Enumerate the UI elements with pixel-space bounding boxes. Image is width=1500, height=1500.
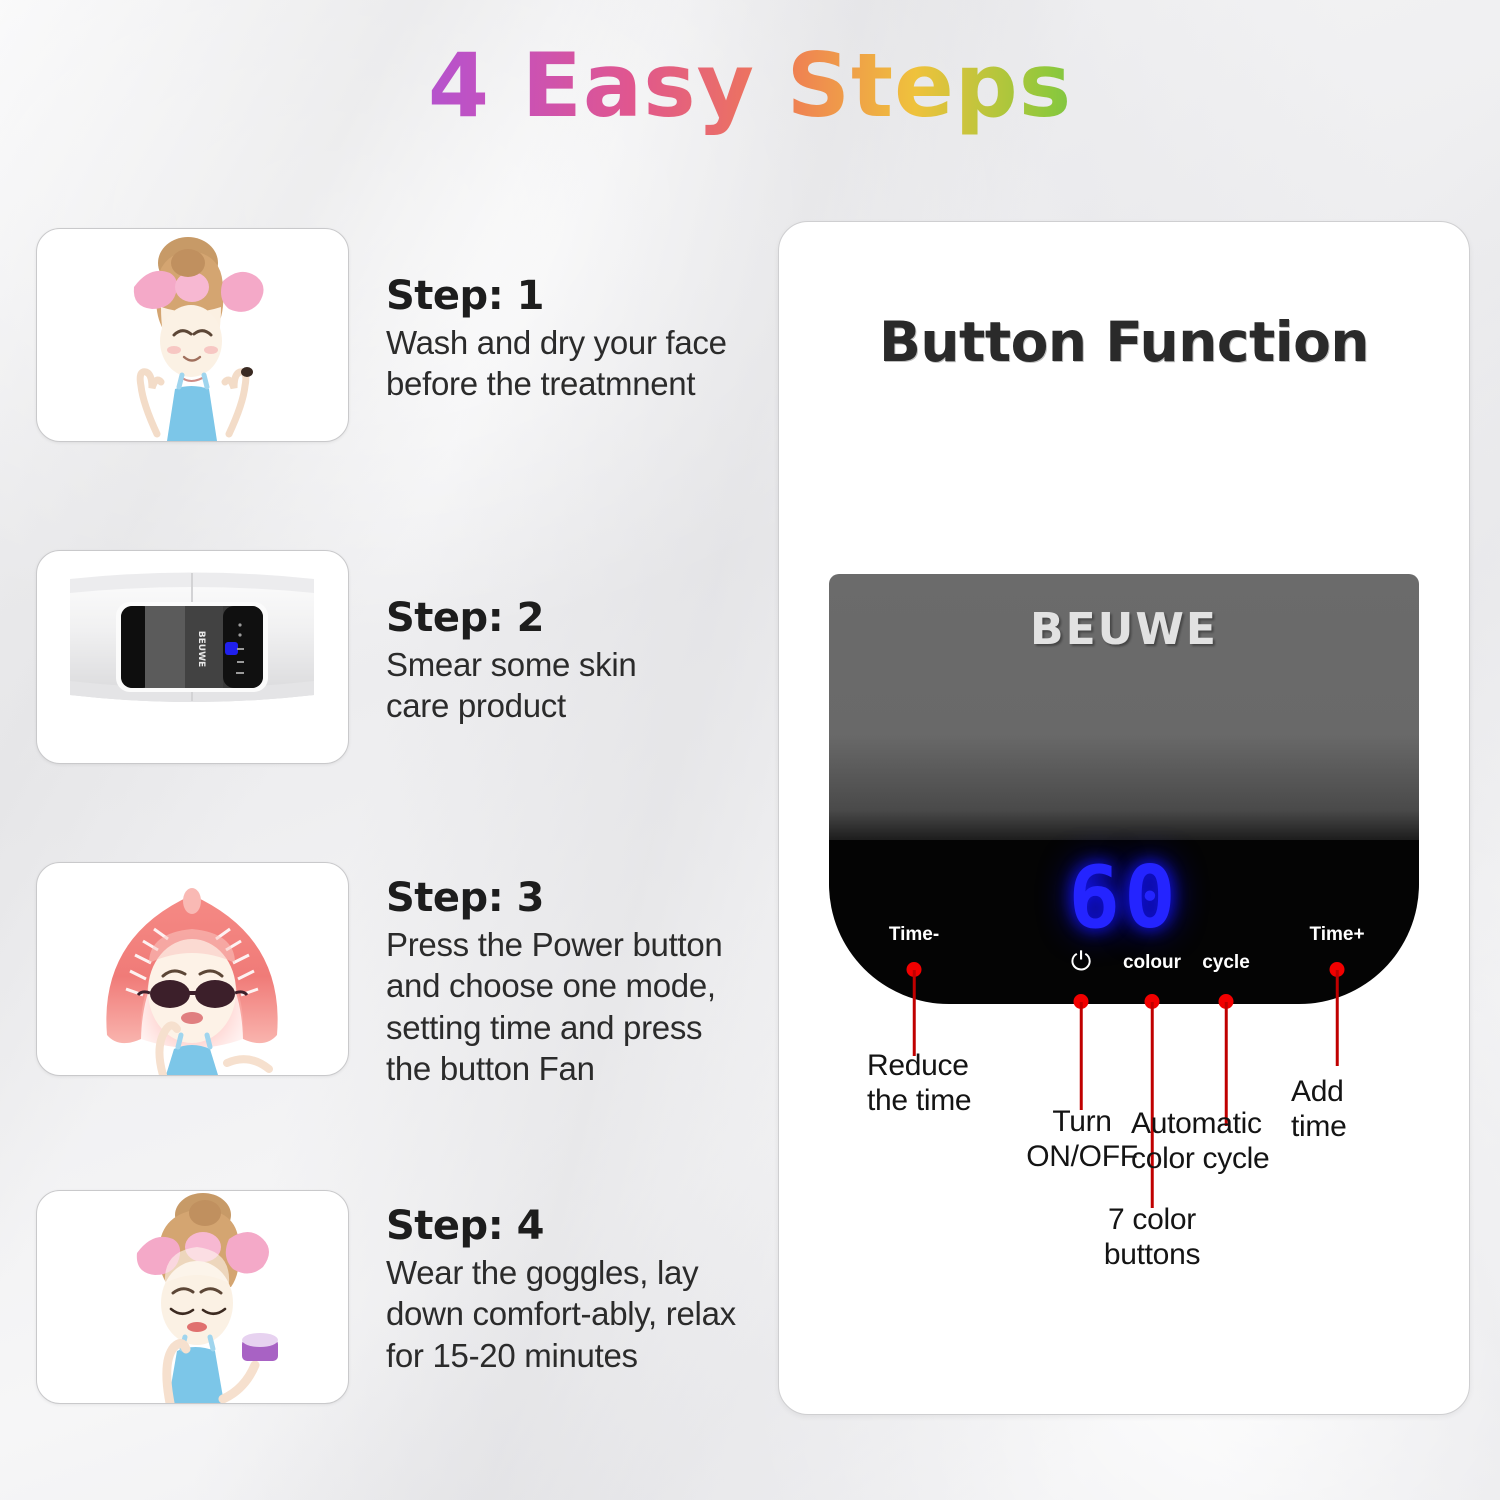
step-3-text: Step: 3 Press the Power button and choos… [386, 876, 776, 1089]
girl-hands-up-icon [37, 229, 348, 441]
step-2: BEUWE Step: 2 Smear some skin care produ… [0, 550, 770, 772]
step-3-label: Step: 3 [386, 876, 776, 920]
leader-line-power [1080, 1002, 1083, 1110]
step-4-image-card [36, 1190, 349, 1404]
step-3-image-card [36, 862, 349, 1076]
device-brand-logo: BEUWE [829, 604, 1419, 655]
panel-title: Button Function [779, 310, 1469, 374]
button-label-colour[interactable]: colour [1123, 952, 1181, 974]
device-illustration: BEUWE 60 Time- ⏻ colour cycle Time+ [829, 574, 1419, 1004]
girl-wearing-led-mask-icon [37, 863, 348, 1075]
device-control-panel: 60 [829, 840, 1419, 1004]
button-label-time-plus[interactable]: Time+ [1309, 924, 1364, 946]
page-title: 4 Easy Steps [0, 34, 1500, 137]
step-3: Step: 3 Press the Power button and choos… [0, 862, 770, 1084]
callout-reduce-the-time: Reduce the time [867, 1048, 971, 1119]
step-2-image-card: BEUWE [36, 550, 349, 764]
step-1-image-card [36, 228, 349, 442]
callout-add-time: Add time [1291, 1074, 1401, 1145]
step-1-label: Step: 1 [386, 274, 776, 318]
button-function-panel: Button Function BEUWE 60 Time- ⏻ colour … [778, 221, 1470, 1415]
leader-line-time-plus [1336, 970, 1339, 1066]
step-2-text: Step: 2 Smear some skin care product [386, 596, 776, 727]
step-4-label: Step: 4 [386, 1204, 806, 1248]
step-1-text: Step: 1 Wash and dry your face before th… [386, 274, 776, 405]
power-icon[interactable]: ⏻ [1071, 946, 1092, 978]
step-3-body: Press the Power button and choose one mo… [386, 924, 776, 1089]
infographic-page: 4 Easy Steps [0, 0, 1500, 1500]
callout-7-color-buttons: 7 color buttons [1073, 1202, 1231, 1273]
step-1: Step: 1 Wash and dry your face before th… [0, 228, 770, 450]
device-top-shell: BEUWE [829, 574, 1419, 842]
step-4-body: Wear the goggles, lay down comfort-ably,… [386, 1252, 806, 1376]
svg-text:BEUWE: BEUWE [196, 631, 206, 667]
girl-applying-cream-icon [37, 1191, 348, 1403]
step-2-body: Smear some skin care product [386, 644, 776, 727]
leader-line-time-minus [913, 970, 916, 1056]
step-4-text: Step: 4 Wear the goggles, lay down comfo… [386, 1204, 806, 1376]
led-mask-device-icon: BEUWE [37, 551, 348, 763]
button-label-cycle[interactable]: cycle [1202, 952, 1250, 974]
step-1-body: Wash and dry your face before the treatm… [386, 322, 776, 405]
button-label-time-minus[interactable]: Time- [889, 924, 939, 946]
step-2-label: Step: 2 [386, 596, 776, 640]
step-4: Step: 4 Wear the goggles, lay down comfo… [0, 1190, 770, 1412]
